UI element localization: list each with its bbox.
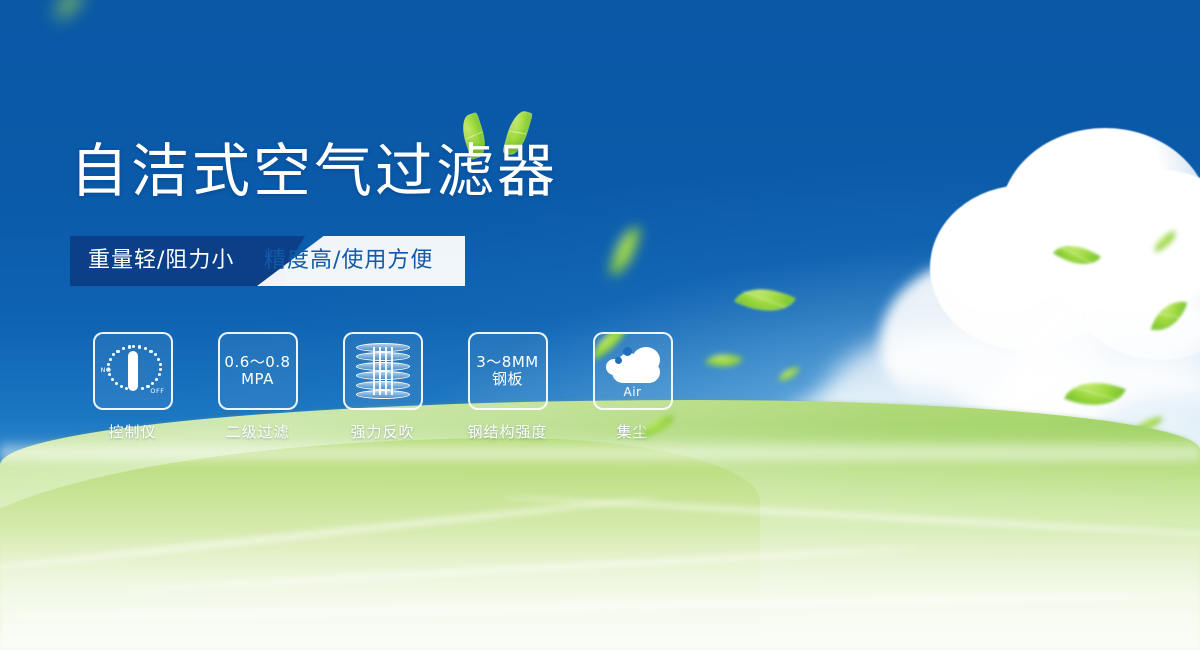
filter-stack-icon xyxy=(356,343,410,399)
feature-icon-text-line1: 3〜8MM xyxy=(476,354,538,371)
page-title: 自洁式空气过滤器 xyxy=(70,142,558,200)
feature-item-blowback[interactable]: 强力反吹 xyxy=(320,332,445,442)
cloud-air-icon xyxy=(602,343,664,383)
gauge-icon: NO OFF xyxy=(102,342,164,400)
feature-icon-text-line2: 钢板 xyxy=(492,371,523,388)
feature-icon-box: Air xyxy=(593,332,673,410)
feature-item-steel-strength[interactable]: 3〜8MM 钢板 钢结构强度 xyxy=(445,332,570,442)
gauge-needle xyxy=(128,351,138,391)
subtitle-left-text: 重量轻/阻力小 xyxy=(88,236,234,286)
feature-label: 二级过滤 xyxy=(225,421,289,442)
leaf xyxy=(777,367,800,382)
feature-item-controller[interactable]: NO OFF 控制仪 xyxy=(70,332,195,442)
gauge-label-off: OFF xyxy=(150,387,164,395)
feature-label: 强力反吹 xyxy=(350,421,414,442)
feature-icon-box: NO OFF xyxy=(93,332,173,410)
feature-label: 控制仪 xyxy=(108,421,156,442)
product-banner: 自洁式空气过滤器 重量轻/阻力小 精度高/使用方便 xyxy=(0,0,1200,650)
air-label: Air xyxy=(624,385,642,399)
feature-list: NO OFF 控制仪 0.6〜0.8 MPA 二级过滤 xyxy=(70,332,695,442)
feature-label: 钢结构强度 xyxy=(467,421,547,442)
leaf xyxy=(1053,233,1101,276)
leaf xyxy=(1064,369,1126,419)
leaf xyxy=(609,224,640,279)
feature-icon-box xyxy=(343,332,423,410)
leaf xyxy=(705,347,743,374)
leaf xyxy=(734,275,796,326)
feature-icon-text-line1: 0.6〜0.8 xyxy=(224,354,290,371)
feature-icon-box: 3〜8MM 钢板 xyxy=(468,332,548,410)
leaf xyxy=(1151,295,1188,337)
leaf xyxy=(1151,231,1180,253)
gauge-label-on: NO xyxy=(101,366,112,374)
feature-icon-box: 0.6〜0.8 MPA xyxy=(218,332,298,410)
feature-item-dust-collection[interactable]: Air 集尘 xyxy=(570,332,695,442)
feature-icon-text-line2: MPA xyxy=(241,371,274,388)
feature-item-secondary-filter[interactable]: 0.6〜0.8 MPA 二级过滤 xyxy=(195,332,320,442)
subtitle-right-text: 精度高/使用方便 xyxy=(264,236,433,286)
leaf xyxy=(49,0,88,20)
